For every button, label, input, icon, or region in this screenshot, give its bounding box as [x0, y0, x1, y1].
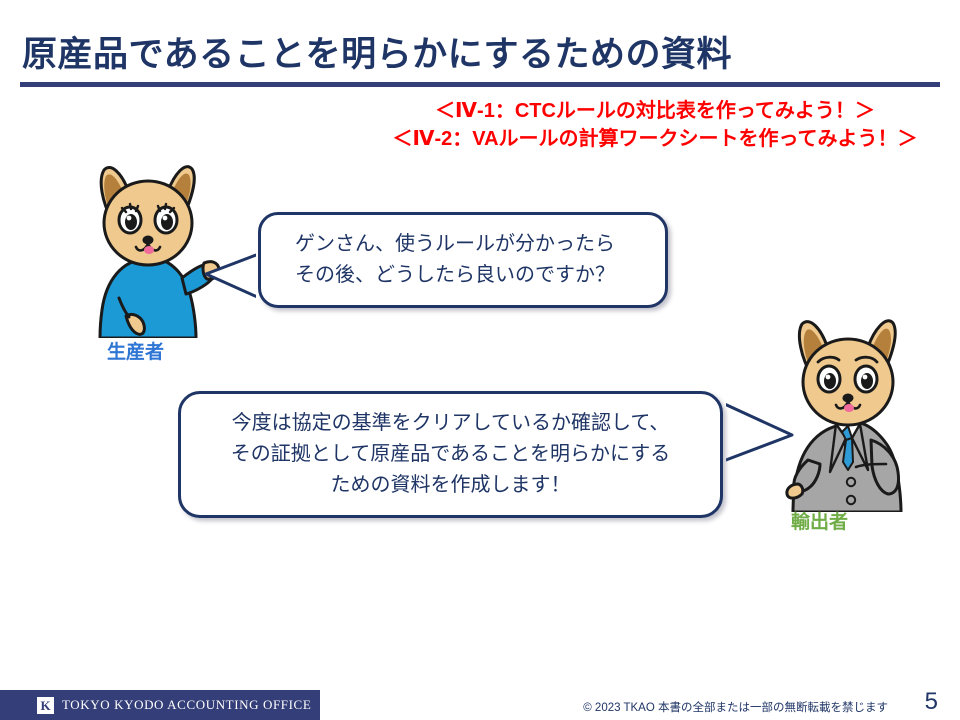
- exporter-speech-bubble: 今度は協定の基準をクリアしているか確認して、 その証拠として原産品であることを明…: [178, 391, 723, 518]
- footer-logo-bar: K TOKYO KYODO ACCOUNTING OFFICE: [0, 690, 320, 720]
- exporter-bubble-text: 今度は協定の基準をクリアしているか確認して、 その証拠として原産品であることを明…: [181, 394, 720, 501]
- page-title: 原産品であることを明らかにするための資料: [22, 26, 732, 77]
- producer-bubble-line-2: その後、どうしたら良いのですか？: [295, 260, 665, 291]
- page-number: 5: [925, 688, 938, 716]
- producer-bubble-text: ゲンさん、使うルールが分かったら その後、どうしたら良いのですか？: [261, 215, 665, 291]
- copyright-notice: © 2023 TKAO 本書の全部または一部の無断転載を禁じます: [583, 699, 888, 715]
- tkao-logo-text: TOKYO KYODO ACCOUNTING OFFICE: [62, 697, 311, 713]
- producer-speech-bubble: ゲンさん、使うルールが分かったら その後、どうしたら良いのですか？: [258, 212, 668, 308]
- producer-kangaroo-avatar: [78, 158, 228, 338]
- tkao-logo-icon: K: [37, 697, 54, 714]
- exporter-bubble-line-2: その証拠として原産品であることを明らかにする: [181, 439, 720, 470]
- producer-label: 生産者: [107, 337, 164, 364]
- title-divider: [20, 82, 940, 87]
- producer-bubble-line-1: ゲンさん、使うルールが分かったら: [295, 229, 665, 260]
- exporter-label: 輸出者: [791, 507, 848, 534]
- subtitle-line-2: ＜Ⅳ-2：VAルールの計算ワークシートを作ってみよう！＞: [360, 125, 950, 153]
- subtitle-line-1: ＜Ⅳ-1：CTCルールの対比表を作ってみよう！＞: [360, 97, 950, 125]
- exporter-bubble-line-3: ための資料を作成します！: [181, 470, 720, 501]
- exporter-kangaroo-avatar: [768, 312, 933, 512]
- subtitle-block: ＜Ⅳ-1：CTCルールの対比表を作ってみよう！＞ ＜Ⅳ-2：VAルールの計算ワー…: [360, 97, 950, 153]
- exporter-bubble-line-1: 今度は協定の基準をクリアしているか確認して、: [181, 408, 720, 439]
